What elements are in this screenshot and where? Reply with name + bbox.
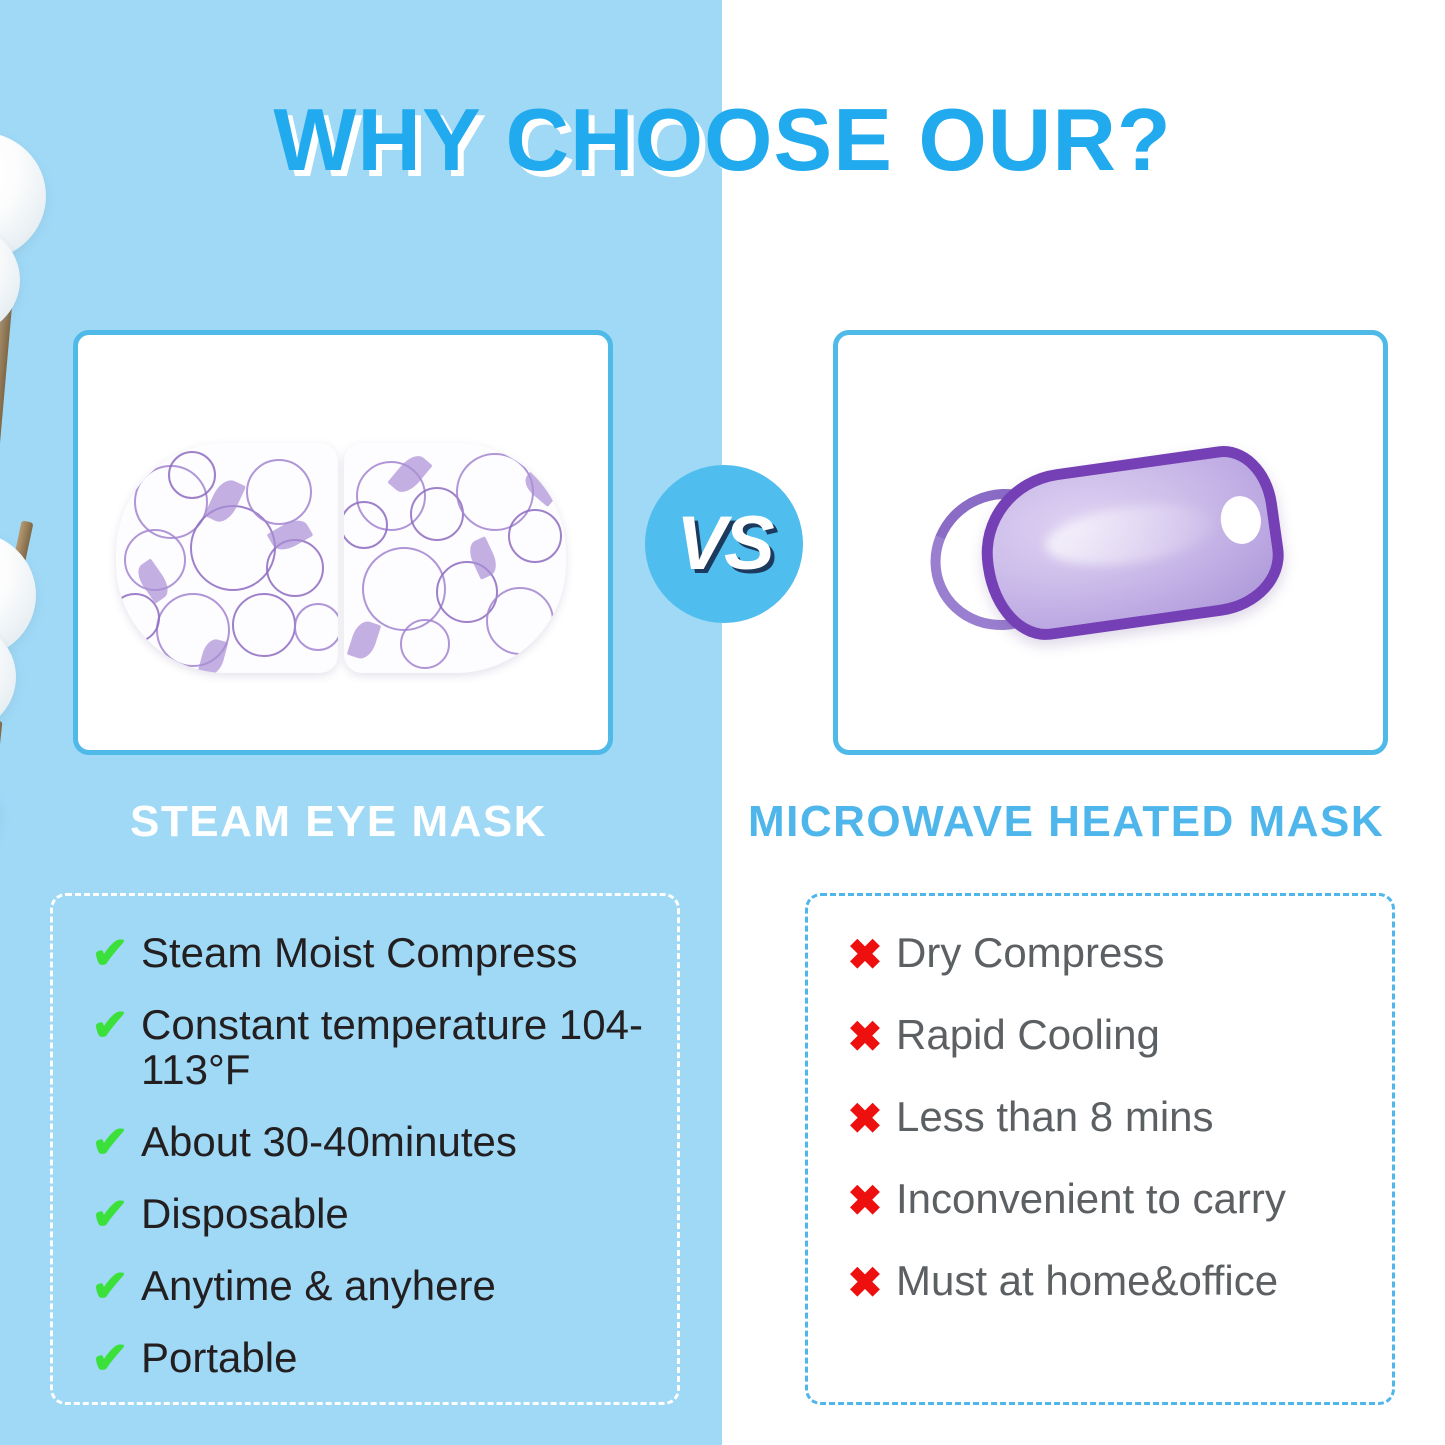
- steam-eye-mask-image: [116, 443, 566, 673]
- cross-icon: ✖: [834, 1098, 896, 1140]
- feature-label: Constant temperature 104-113°F: [141, 1002, 651, 1093]
- check-icon: ✔: [79, 1121, 141, 1165]
- column-heading-left: STEAM EYE MASK: [130, 800, 547, 844]
- list-item: ✖ Must at home&office: [834, 1258, 1366, 1304]
- vs-label: VS: [676, 506, 771, 582]
- feature-label: Must at home&office: [896, 1258, 1278, 1303]
- cross-icon: ✖: [834, 934, 896, 976]
- feature-label: Rapid Cooling: [896, 1012, 1160, 1057]
- check-icon: ✔: [79, 1193, 141, 1237]
- feature-label: Less than 8 mins: [896, 1094, 1214, 1139]
- feature-box-microwave-heated-mask: ✖ Dry Compress ✖ Rapid Cooling ✖ Less th…: [805, 893, 1395, 1405]
- feature-list-left: ✔ Steam Moist Compress ✔ Constant temper…: [79, 930, 651, 1381]
- list-item: ✔ Portable: [79, 1335, 651, 1381]
- feature-label: Steam Moist Compress: [141, 930, 577, 975]
- list-item: ✔ Steam Moist Compress: [79, 930, 651, 976]
- column-heading-right: MICROWAVE HEATED MASK: [748, 800, 1384, 844]
- feature-label: Inconvenient to carry: [896, 1176, 1286, 1221]
- satin-sleep-mask-image: [944, 429, 1299, 673]
- feature-label: Disposable: [141, 1191, 349, 1236]
- feature-label: Dry Compress: [896, 930, 1164, 975]
- check-icon: ✔: [79, 1337, 141, 1381]
- product-card-steam-eye-mask: [73, 330, 613, 755]
- check-icon: ✔: [79, 1004, 141, 1048]
- check-icon: ✔: [79, 932, 141, 976]
- list-item: ✖ Less than 8 mins: [834, 1094, 1366, 1140]
- feature-label: Anytime & anyhere: [141, 1263, 496, 1308]
- check-icon: ✔: [79, 1265, 141, 1309]
- feature-list-right: ✖ Dry Compress ✖ Rapid Cooling ✖ Less th…: [834, 930, 1366, 1304]
- cross-icon: ✖: [834, 1180, 896, 1222]
- list-item: ✔ Anytime & anyhere: [79, 1263, 651, 1309]
- list-item: ✖ Dry Compress: [834, 930, 1366, 976]
- list-item: ✔ Constant temperature 104-113°F: [79, 1002, 651, 1093]
- list-item: ✖ Rapid Cooling: [834, 1012, 1366, 1058]
- steam-mask-left-half: [116, 443, 338, 673]
- list-item: ✔ Disposable: [79, 1191, 651, 1237]
- mask-sheen-highlight: [1042, 495, 1218, 574]
- page-title: WHY CHOOSE OUR?: [0, 96, 1445, 184]
- cross-icon: ✖: [834, 1016, 896, 1058]
- cross-icon: ✖: [834, 1262, 896, 1304]
- infographic-page: WHY CHOOSE OUR?: [0, 0, 1445, 1445]
- feature-label: Portable: [141, 1335, 297, 1380]
- steam-mask-right-half: [344, 443, 566, 673]
- vs-badge: VS: [645, 465, 803, 623]
- feature-label: About 30-40minutes: [141, 1119, 517, 1164]
- list-item: ✖ Inconvenient to carry: [834, 1176, 1366, 1222]
- list-item: ✔ About 30-40minutes: [79, 1119, 651, 1165]
- feature-box-steam-eye-mask: ✔ Steam Moist Compress ✔ Constant temper…: [50, 893, 680, 1405]
- product-card-microwave-heated-mask: [833, 330, 1388, 755]
